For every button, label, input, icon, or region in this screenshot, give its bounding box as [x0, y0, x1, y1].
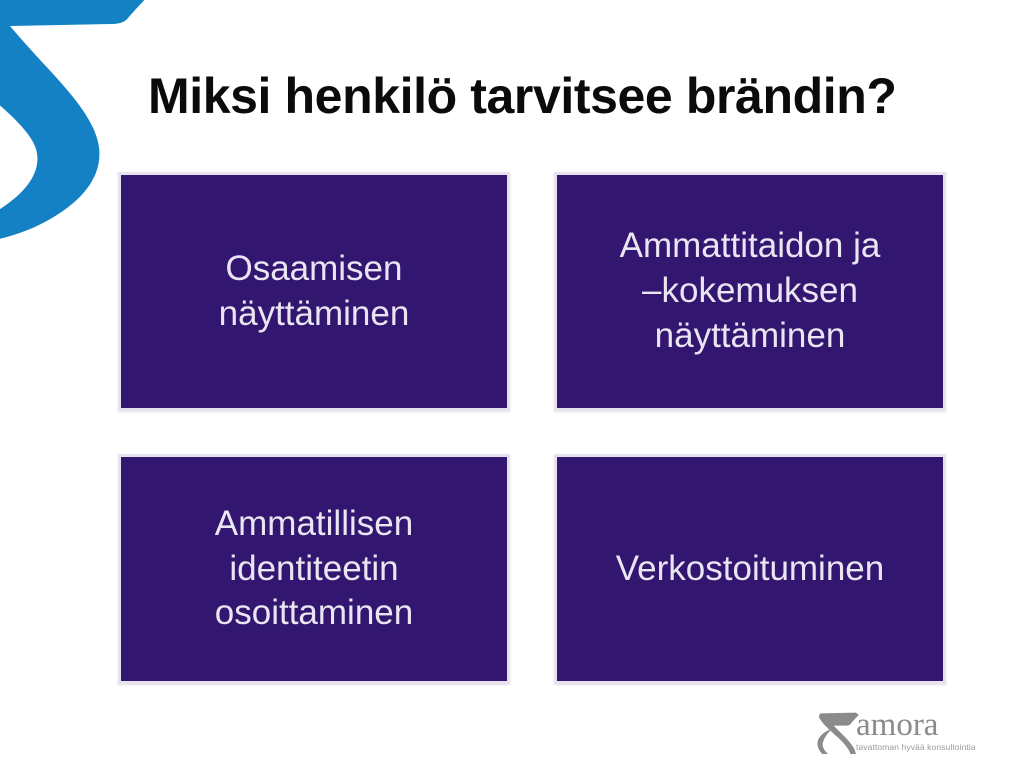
footer-logo-text: amora tavattoman hyvää konsultointia	[856, 710, 976, 754]
slide-canvas: Miksi henkilö tarvitsee brändin? Osaamis…	[0, 0, 1024, 768]
footer-logo: amora tavattoman hyvää konsultointia	[816, 698, 996, 754]
concept-box-verkostoituminen[interactable]: Verkostoituminen	[554, 454, 946, 684]
footer-logo-tagline: tavattoman hyvää konsultointia	[856, 743, 976, 752]
concept-box-ammattitaidon-ja-kokemuksen-nayttaminen[interactable]: Ammattitaidon ja –kokemuksen näyttäminen	[554, 172, 946, 411]
concept-box-label: Ammatillisen identiteetin osoittaminen	[215, 502, 413, 636]
page-title: Miksi henkilö tarvitsee brändin?	[148, 68, 978, 124]
concept-box-label: Osaamisen näyttäminen	[219, 247, 410, 337]
footer-logo-name: amora	[856, 710, 938, 741]
concept-box-grid: Osaamisen näyttäminen Ammattitaidon ja –…	[118, 172, 946, 684]
concept-box-label: Verkostoituminen	[616, 547, 884, 592]
concept-box-ammatillisen-identiteetin-osoittaminen[interactable]: Ammatillisen identiteetin osoittaminen	[118, 454, 510, 684]
concept-box-label: Ammattitaidon ja –kokemuksen näyttäminen	[620, 224, 881, 358]
concept-box-osaamisen-nayttaminen[interactable]: Osaamisen näyttäminen	[118, 172, 510, 411]
